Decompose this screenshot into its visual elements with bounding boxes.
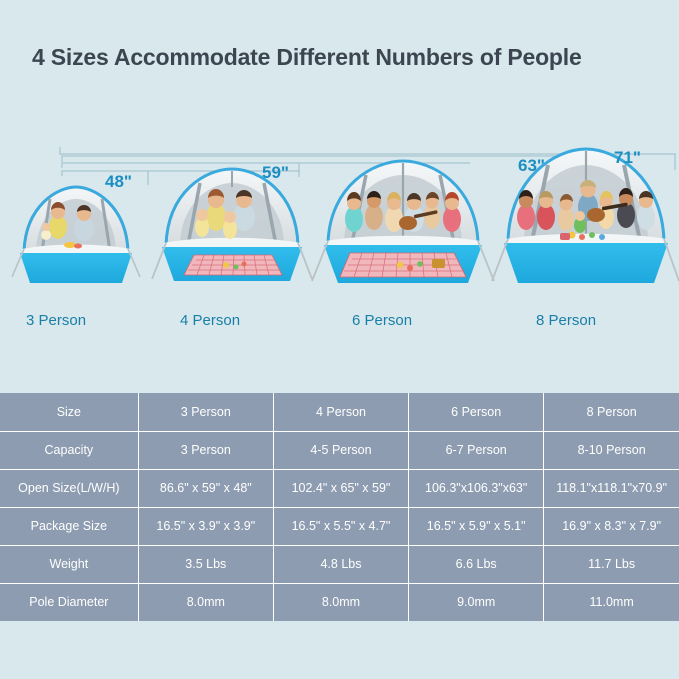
cell-package-size-6-person: 16.5" x 5.9" x 5.1"	[409, 507, 544, 545]
cell-capacity-3-person: 3 Person	[138, 431, 273, 469]
row-header-open-size: Open Size(L/W/H)	[0, 469, 138, 507]
picnic-blanket	[340, 253, 466, 277]
table-row-size: Size 3 Person 4 Person 6 Person 8 Person	[0, 393, 679, 431]
size-label-row: 3 Person 4 Person 6 Person 8 Person	[0, 312, 679, 336]
table-row-pole-diameter: Pole Diameter 8.0mm 8.0mm 9.0mm 11.0mm	[0, 583, 679, 621]
cell-weight-8-person: 11.7 Lbs	[544, 545, 679, 583]
specification-table: Size 3 Person 4 Person 6 Person 8 Person…	[0, 393, 679, 621]
row-header-size: Size	[0, 393, 138, 431]
size-label-6-person: 6 Person	[352, 312, 412, 329]
tent-illustration-4-person	[148, 147, 316, 295]
cell-weight-6-person: 6.6 Lbs	[409, 545, 544, 583]
cell-open-size-3-person: 86.6" x 59" x 48"	[138, 469, 273, 507]
page-title: 4 Sizes Accommodate Different Numbers of…	[32, 44, 582, 71]
table-row-capacity: Capacity 3 Person 4-5 Person 6-7 Person …	[0, 431, 679, 469]
cell-capacity-8-person: 8-10 Person	[544, 431, 679, 469]
cell-package-size-8-person: 16.9" x 8.3" x 7.9"	[544, 507, 679, 545]
cell-open-size-8-person: 118.1"x118.1"x70.9"	[544, 469, 679, 507]
cell-package-size-3-person: 16.5" x 3.9" x 3.9"	[138, 507, 273, 545]
height-mark-8-person: 71"	[614, 148, 641, 168]
table-row-weight: Weight 3.5 Lbs 4.8 Lbs 6.6 Lbs 11.7 Lbs	[0, 545, 679, 583]
row-header-weight: Weight	[0, 545, 138, 583]
height-mark-3-person: 48"	[105, 172, 132, 192]
cell-size-6-person: 6 Person	[409, 393, 544, 431]
size-label-8-person: 8 Person	[536, 312, 596, 329]
cell-capacity-6-person: 6-7 Person	[409, 431, 544, 469]
row-header-capacity: Capacity	[0, 431, 138, 469]
cell-pole-diameter-4-person: 8.0mm	[273, 583, 408, 621]
cell-size-3-person: 3 Person	[138, 393, 273, 431]
size-label-3-person: 3 Person	[26, 312, 86, 329]
table-row-package-size: Package Size 16.5" x 3.9" x 3.9" 16.5" x…	[0, 507, 679, 545]
cell-pole-diameter-6-person: 9.0mm	[409, 583, 544, 621]
size-label-4-person: 4 Person	[180, 312, 240, 329]
row-header-pole-diameter: Pole Diameter	[0, 583, 138, 621]
tent-illustration-8-person	[488, 137, 679, 295]
cell-size-8-person: 8 Person	[544, 393, 679, 431]
cell-weight-4-person: 4.8 Lbs	[273, 545, 408, 583]
cell-capacity-4-person: 4-5 Person	[273, 431, 408, 469]
cell-open-size-4-person: 102.4" x 65" x 59"	[273, 469, 408, 507]
table-body: Size 3 Person 4 Person 6 Person 8 Person…	[0, 393, 679, 621]
cell-package-size-4-person: 16.5" x 5.5" x 4.7"	[273, 507, 408, 545]
height-mark-4-person: 59"	[262, 163, 289, 183]
row-header-package-size: Package Size	[0, 507, 138, 545]
cell-pole-diameter-8-person: 11.0mm	[544, 583, 679, 621]
picnic-blanket	[184, 255, 282, 275]
cell-weight-3-person: 3.5 Lbs	[138, 545, 273, 583]
tent-illustration-6-person	[308, 143, 498, 295]
table-row-open-size: Open Size(L/W/H) 86.6" x 59" x 48" 102.4…	[0, 469, 679, 507]
cell-open-size-6-person: 106.3"x106.3"x63"	[409, 469, 544, 507]
tent-illustration-row: 48"	[0, 140, 679, 295]
cell-pole-diameter-3-person: 8.0mm	[138, 583, 273, 621]
cell-size-4-person: 4 Person	[273, 393, 408, 431]
